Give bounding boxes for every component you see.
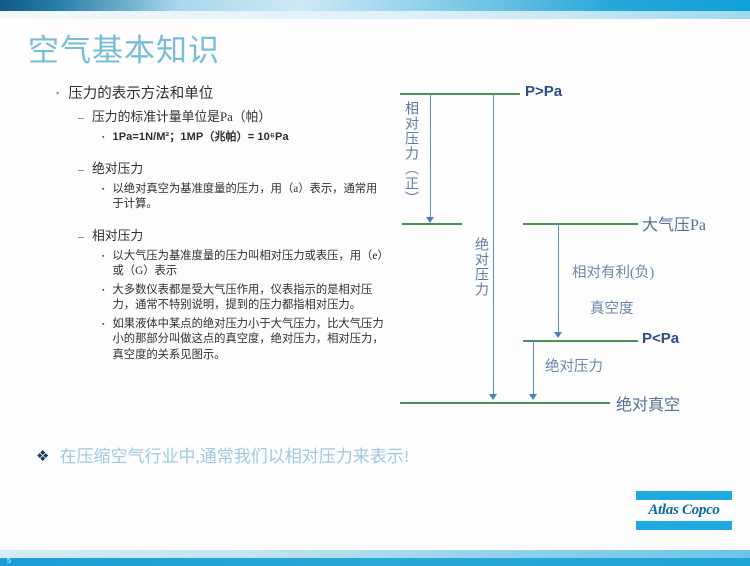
bullet-level2-label: 相对压力 [92,227,143,246]
bullet-level3-relative-desc-1: ▪ 以大气压为基准度量的压力叫相对压力或表压，用（e）或（G）表示 [102,249,386,280]
bullet-level3-text: 以大气压为基准度量的压力叫相对压力或表压，用（e）或（G）表示 [112,249,386,280]
bottom-bar [0,558,750,566]
page-title: 空气基本知识 [28,34,220,68]
spacer [56,216,386,225]
spacer [56,149,386,158]
square-bullet-icon: ▪ [102,317,104,332]
atlas-copco-logo: Atlas Copco [636,491,732,530]
bullet-level3-formula: ▪ 1Pa=1N/M²；1MP（兆帕）= 10⁶Pa [102,130,386,146]
measure-line-relative-positive [430,93,431,219]
bullet-level1-pressure-units: ▪ 压力的表示方法和单位 [56,84,386,105]
slide-canvas: 空气基本知识 ▪ 压力的表示方法和单位 – 压力的标准计量单位是Pa（帕） ▪ … [0,0,750,566]
level-line-relative-base [402,223,462,225]
level-line-atmospheric-pa [523,223,638,225]
formula-text: 1Pa=1N/M²；1MP（兆帕）= 10⁶Pa [112,130,386,146]
bullet-level2-relative-pressure: – 相对压力 [78,227,386,246]
page-number: 5 [7,558,11,565]
level-line-absolute-vacuum [400,402,610,404]
square-bullet-icon: ▪ [56,84,59,103]
logo-bar-top [636,491,732,500]
dash-bullet-icon: – [78,227,84,245]
arrow-down-relative-positive [426,217,434,223]
diamond-bullet-icon: ❖ [36,448,49,466]
measure-line-absolute-pressure-left [493,93,494,396]
top-gradient-banner [0,0,750,11]
bullet-level3-text: 以绝对真空为基准度量的压力，用（a）表示，通常用于计算。 [112,182,386,213]
bullet-level3-text: 大多数仪表都是受大气压作用，仪表指示的是相对压力，通常不特别说明，提到的压力都指… [112,283,386,314]
measure-label-vacuum-degree: 真空度 [590,297,634,318]
measure-line-absolute-pressure-low [533,340,534,397]
level-label-p-greater-pa: P>Pa [525,83,562,100]
square-bullet-icon: ▪ [102,283,104,298]
bullet-level3-relative-desc-3: ▪ 如果液体中某点的绝对压力小于大气压力，比大气压力小的那部分叫做这点的真空度，… [102,317,386,364]
bullet-level3-absolute-desc: ▪ 以绝对真空为基准度量的压力，用（a）表示，通常用于计算。 [102,182,386,213]
pressure-diagram: 相对压力（正） 绝对压力 相对有利(负) 真空度 绝对压力 P>Pa 大气压Pa… [380,75,750,425]
square-bullet-icon: ▪ [102,249,104,264]
measure-label-relative-negative: 相对有利(负) [572,261,654,282]
content-body: ▪ 压力的表示方法和单位 – 压力的标准计量单位是Pa（帕） ▪ 1Pa=1N/… [56,84,386,366]
bullet-level2-label: 绝对压力 [92,160,143,179]
square-bullet-icon: ▪ [102,182,104,197]
level-line-p-less-pa [523,340,638,342]
level-label-atmospheric-pa: 大气压Pa [642,211,706,235]
level-label-p-less-pa: P<Pa [642,330,679,347]
highlight-text: 在压缩空气行业中,通常我们以相对压力来表示! [59,446,409,468]
bullet-level2-absolute-pressure: – 绝对压力 [78,160,386,179]
highlight-statement: ❖ 在压缩空气行业中,通常我们以相对压力来表示! [36,446,409,468]
bottom-gradient-band [0,550,750,558]
measure-line-vacuum-degree [558,223,559,334]
logo-wordmark: Atlas Copco [636,502,732,519]
arrow-down-absolute-pressure-low [529,394,537,400]
arrow-down-vacuum-degree [554,332,562,338]
measure-label-absolute-pressure-low: 绝对压力 [545,355,603,376]
dash-bullet-icon: – [78,160,84,178]
measure-label-relative-positive: 相对压力（正） [400,101,420,219]
bullet-level3-text: 如果液体中某点的绝对压力小于大气压力，比大气压力小的那部分叫做这点的真空度，绝对… [112,317,386,364]
level-label-absolute-vacuum: 绝对真空 [616,391,680,415]
logo-bar-bottom [636,521,732,530]
dash-bullet-icon: – [78,108,84,126]
level-line-p-greater-pa-2 [490,93,520,95]
arrow-down-absolute-pressure-left [489,394,497,400]
bullet-level1-label: 压力的表示方法和单位 [68,84,213,105]
bullet-level3-relative-desc-2: ▪ 大多数仪表都是受大气压作用，仪表指示的是相对压力，通常不特别说明，提到的压力… [102,283,386,314]
measure-label-absolute-pressure-left: 绝对压力 [470,237,490,329]
bullet-level2-label: 压力的标准计量单位是Pa（帕） [92,108,271,127]
top-gradient-banner-soft [0,11,750,19]
bullet-level2-standard-unit: – 压力的标准计量单位是Pa（帕） [78,108,386,127]
square-bullet-icon: ▪ [102,130,104,145]
